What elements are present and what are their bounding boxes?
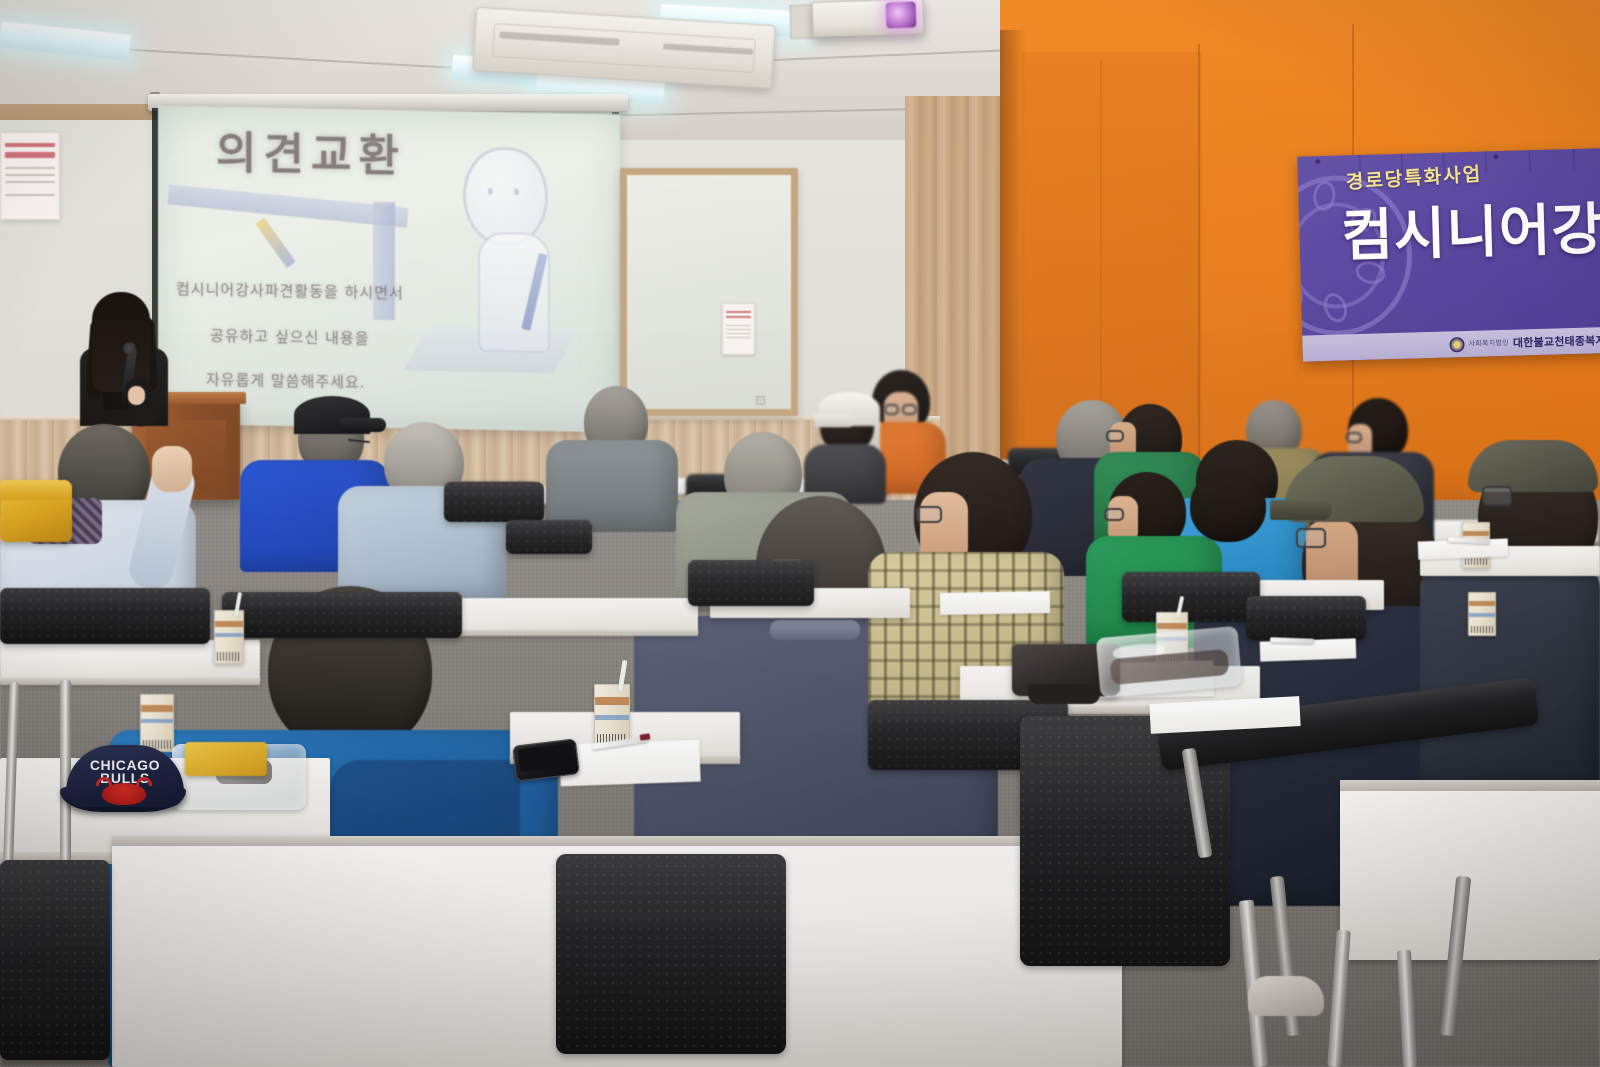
glasses-icon: [884, 404, 899, 415]
plastic-wrapped-gift: [1096, 626, 1243, 698]
yellow-tote-bag: [185, 742, 267, 776]
slide-title: 의견교환: [216, 117, 406, 185]
flat-cap-brim: [1270, 500, 1332, 520]
bull-logo-icon: [102, 783, 146, 805]
person-collar: [770, 620, 860, 640]
flat-cap: [1468, 440, 1598, 492]
glasses-icon: [1104, 508, 1124, 521]
event-banner: 경로당특화사업 컴시니어강사 사회복지법인 대한불교천태종복지재단: [1297, 147, 1600, 361]
juice-carton: [1468, 592, 1496, 636]
glasses-icon: [916, 506, 942, 523]
slide-line-3: 자유롭게 말씀해주세요.: [206, 368, 366, 392]
handout-paper: [940, 591, 1050, 615]
folding-table-right: [1340, 780, 1600, 960]
person-torso: [546, 440, 678, 532]
stacking-chair: [506, 520, 592, 554]
white-cap-brim: [814, 414, 854, 427]
juice-carton: [214, 610, 244, 664]
shoe: [1248, 976, 1324, 1016]
classroom-photo-scene: 의견교환 컴시니어강사파견활동을 하시면서 공유하고 싶으신 내용을 자유롭게 …: [0, 0, 1600, 1067]
presenter-hand: [128, 386, 145, 405]
table-edge: [0, 678, 260, 685]
stacking-chair: [1122, 572, 1260, 622]
whiteboard-notice: [722, 303, 755, 355]
yellow-tote-bag: [0, 480, 72, 542]
glasses-icon: [1106, 430, 1124, 442]
folding-table: [440, 598, 698, 634]
slide-line-1: 컴시니어강사파견활동을 하시면서: [176, 278, 404, 303]
table-edge: [440, 630, 698, 636]
stacking-chair: [0, 860, 110, 1060]
microphone-head-icon: [123, 342, 136, 355]
projector-lens-icon: [886, 1, 917, 28]
stacking-chair: [444, 482, 544, 522]
banner-org-prefix: 사회복지법인: [1468, 338, 1509, 349]
stacking-chair: [0, 588, 210, 644]
glasses-icon: [1346, 432, 1362, 443]
person-torso: [1420, 566, 1600, 786]
slide-line-2: 공유하고 싶으신 내용을: [210, 325, 370, 349]
juice-carton: [140, 694, 174, 752]
stacking-chair: [556, 854, 786, 1054]
table-edge: [112, 836, 1122, 846]
glasses-icon: [1482, 486, 1512, 506]
glasses-icon: [1296, 528, 1326, 548]
banner-org-name: 대한불교천태종복지재단: [1513, 332, 1600, 351]
foundation-logo-icon: [1449, 337, 1464, 352]
table-edge: [1340, 780, 1600, 791]
raised-hand: [152, 446, 192, 492]
wall-poster-left: [0, 132, 60, 220]
whiteboard: [620, 168, 798, 416]
projection-screen: 의견교환 컴시니어강사파견활동을 하시면서 공유하고 싶으신 내용을 자유롭게 …: [158, 106, 620, 433]
juice-carton: [594, 684, 630, 746]
handout-paper: [559, 740, 700, 787]
banner-title: 컴시니어강사: [1340, 183, 1600, 273]
whiteboard-knob: [756, 396, 765, 405]
glasses-icon: [902, 404, 917, 415]
handbag-base: [1028, 684, 1100, 704]
stacking-chair: [1246, 596, 1366, 640]
stacking-chair: [222, 592, 462, 638]
black-cap-brim: [340, 418, 386, 432]
person-head: [1190, 470, 1266, 542]
stacking-chair: [688, 560, 814, 606]
